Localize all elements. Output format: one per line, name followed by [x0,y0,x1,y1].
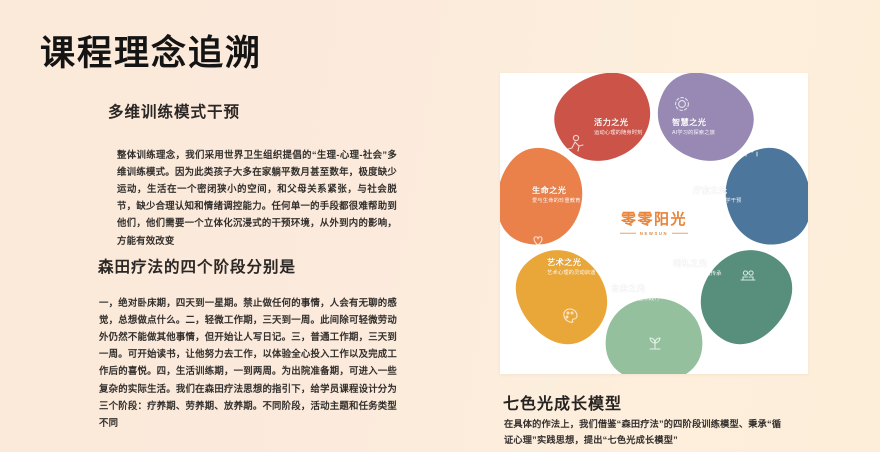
logo-rule-left [620,233,636,234]
brand-logo-cn: 零零阳光 [599,211,709,228]
logo-rule-right [672,233,688,234]
seven-color-flower-card: 活力之光 运动心理的随身时刻 智慧之光 AI学习的探索之旅 疗愈之光 循证心理的… [500,73,808,374]
page-title: 课程理念追溯 [40,34,262,74]
brand-logo: 零零阳光 NEWSUN [599,211,709,236]
right-figure-column: 活力之光 运动心理的随身时刻 智慧之光 AI学习的探索之旅 疗愈之光 循证心理的… [470,0,880,452]
petal-life[interactable] [500,140,592,253]
section-heading-morita-stages: 森田疗法的四个阶段分别是 [98,255,296,277]
paragraph-morita-stages: 一，绝对卧床期，四天到一星期。禁止做任何的事情，人会有无聊的感觉，总想做点什么。… [99,294,397,431]
paragraph-training-concept: 整体训练理念，我们采用世界卫生组织提倡的“生理-心理-社会”多维训练模式。因为此… [117,146,397,249]
petal-healing[interactable] [716,140,808,253]
petal-freedom[interactable] [606,298,703,374]
brand-logo-en-wrap: NEWSUN [599,231,709,236]
brand-logo-en: NEWSUN [640,231,668,236]
section-subtitle-intervention: 多维训练模式干预 [108,100,240,122]
left-content-column: 课程理念追溯 多维训练模式干预 整体训练理念，我们采用世界卫生组织提倡的“生理-… [0,0,470,452]
paragraph-model-description: 在具体的作法上，我们借鉴“森田疗法”的四阶段训练模型、秉承“循证心理”实践思想，… [504,416,784,448]
model-title: 七色光成长模型 [503,390,622,414]
